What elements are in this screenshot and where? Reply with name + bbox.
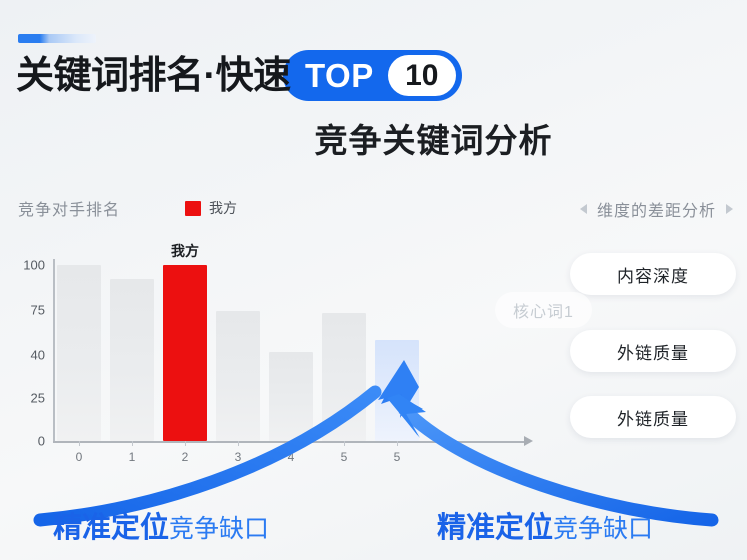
x-axis-tick: 0 <box>76 450 83 464</box>
dimension-pill[interactable]: 外链质量 <box>570 396 736 438</box>
bar <box>110 279 154 441</box>
triangle-left-icon <box>580 204 587 214</box>
right-panel-caption: 维度的差距分析 <box>580 197 733 221</box>
top-badge-count: 10 <box>388 55 456 96</box>
x-axis-tick: 5 <box>341 450 348 464</box>
x-axis-tick-mark <box>344 441 345 446</box>
bar: 我方 <box>163 265 207 441</box>
chart-legend: 我方 <box>185 198 237 218</box>
x-axis-tick-mark <box>397 441 398 446</box>
ghost-keyword-pill: 核心词1 <box>495 292 592 328</box>
top-badge: TOP 10 <box>283 50 462 101</box>
bar <box>57 265 101 441</box>
x-axis-tick-mark <box>291 441 292 446</box>
y-axis-line <box>53 259 55 443</box>
x-axis-tick: 2 <box>182 450 189 464</box>
x-axis-tick-mark <box>132 441 133 446</box>
callout-left: 精准定位 竞争缺口 <box>53 504 269 546</box>
x-axis-line <box>53 441 526 443</box>
triangle-right-icon <box>726 204 733 214</box>
bar <box>269 352 313 441</box>
callout-strong-text: 精准定位 <box>437 504 553 546</box>
legend-label: 我方 <box>209 198 237 218</box>
legend-swatch-icon <box>185 201 201 216</box>
dimension-pill[interactable]: 外链质量 <box>570 330 736 372</box>
x-axis-tick: 1 <box>129 450 136 464</box>
x-axis-tick: 3 <box>235 450 242 464</box>
accent-bar <box>18 34 96 43</box>
right-panel-caption-label: 维度的差距分析 <box>597 197 716 221</box>
page-subtitle: 竞争关键词分析 <box>0 114 747 162</box>
callout-soft-text: 竞争缺口 <box>169 509 269 545</box>
y-axis-tick: 25 <box>3 391 45 406</box>
y-axis-tick: 0 <box>3 434 45 449</box>
y-axis-tick: 100 <box>3 258 45 273</box>
callout-right: 精准定位 竞争缺口 <box>437 504 653 546</box>
y-axis: 1007540250 <box>0 240 45 480</box>
chart-caption: 竞争对手排名 <box>18 196 120 220</box>
bar-label: 我方 <box>171 241 199 261</box>
bar-chart: 1007540250 我方 0123455 <box>0 240 560 480</box>
bar <box>375 340 419 441</box>
x-axis-tick: 5 <box>394 450 401 464</box>
x-axis-tick-mark <box>185 441 186 446</box>
bar <box>322 313 366 441</box>
callout-soft-text: 竞争缺口 <box>553 509 653 545</box>
callout-strong-text: 精准定位 <box>53 504 169 546</box>
page-title: 关键词排名·快速 <box>16 57 291 95</box>
x-axis-tick-mark <box>79 441 80 446</box>
title-row: 关键词排名·快速 <box>16 48 291 104</box>
top-badge-label: TOP <box>305 59 388 92</box>
dimension-pill[interactable]: 内容深度 <box>570 253 736 295</box>
x-axis-tick: 4 <box>288 450 295 464</box>
bar <box>216 311 260 441</box>
x-axis-arrow-icon <box>524 436 533 446</box>
y-axis-tick: 75 <box>3 303 45 318</box>
x-axis-tick-mark <box>238 441 239 446</box>
y-axis-tick: 40 <box>3 348 45 363</box>
